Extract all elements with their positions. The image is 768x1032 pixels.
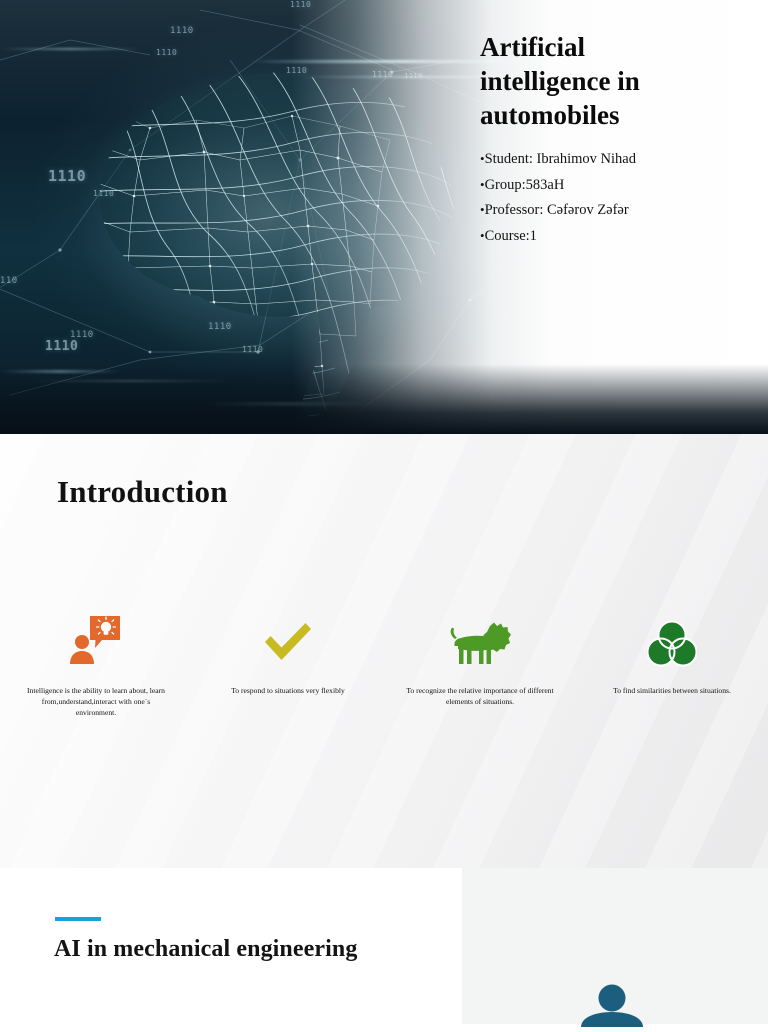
list-item: •Student: Ibrahimov Nihad: [480, 152, 750, 167]
venn-diagram-icon: [647, 610, 697, 668]
list-item: •Course:1: [480, 229, 750, 244]
slide-title: Artificial intelligence in automobiles: [480, 30, 750, 132]
title-line-3: automobiles: [480, 100, 620, 130]
section-title: AI in mechanical engineering: [54, 936, 357, 963]
checkmark-icon: [260, 610, 316, 668]
page-title: Introduction: [57, 474, 228, 510]
feature-card-caption: Intelligence is the ability to learn abo…: [21, 685, 171, 718]
bullet-text: Course:1: [485, 228, 537, 244]
feature-card: Intelligence is the ability to learn abo…: [0, 610, 192, 718]
accent-rule: [55, 917, 101, 921]
list-item: •Group:583aH: [480, 178, 750, 193]
feature-card: To recognize the relative importance of …: [384, 610, 576, 718]
title-bullet-list: •Student: Ibrahimov Nihad •Group:583aH •…: [480, 152, 750, 243]
list-item: •Professor: Cəfərov Zəfər: [480, 203, 750, 218]
title-text-block: Artificial intelligence in automobiles •…: [480, 30, 750, 254]
person-icon: [575, 981, 649, 1032]
feature-card-row: Intelligence is the ability to learn abo…: [0, 610, 768, 718]
bullet-text: Group:583aH: [485, 177, 565, 193]
bullet-text: Professor: Cəfərov Zəfər: [485, 202, 629, 218]
person-idea-bubble-icon: [68, 610, 124, 668]
feature-card: To find similarities between situations.: [576, 610, 768, 718]
title-slide: 1110 1110 1110 1110 1110 1110 1110 1110 …: [0, 0, 768, 434]
introduction-slide: Introduction: [0, 434, 768, 868]
title-line-2: intelligence in: [480, 66, 640, 96]
feature-card-caption: To recognize the relative importance of …: [405, 685, 555, 707]
feature-card: To respond to situations very flexibly: [192, 610, 384, 718]
hero-bottom-fade: [0, 364, 768, 434]
lion-icon: [449, 610, 511, 668]
feature-card-caption: To find similarities between situations.: [597, 685, 747, 696]
title-line-1: Artificial: [480, 32, 585, 62]
bullet-text: Student: Ibrahimov Nihad: [485, 151, 636, 167]
feature-card-caption: To respond to situations very flexibly: [213, 685, 363, 696]
slide-deck: 1110 1110 1110 1110 1110 1110 1110 1110 …: [0, 0, 768, 1024]
